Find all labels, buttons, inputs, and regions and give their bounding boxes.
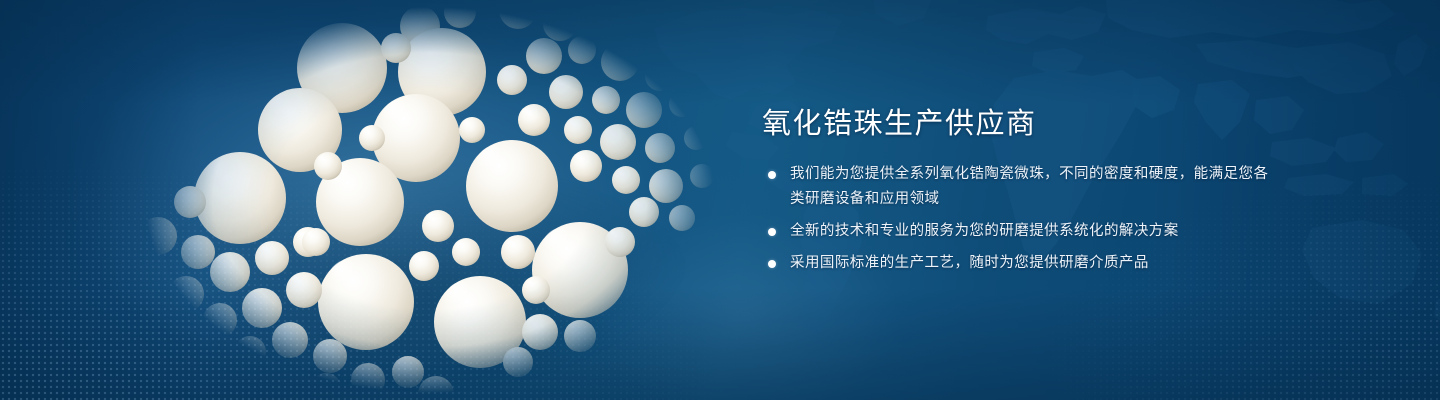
list-item-text: 全新的技术和专业的服务为您的研磨提供系统化的解决方案 [790,223,1179,239]
list-item-text: 我们能为您提供全系列氧化锆陶瓷微珠，不同的密度和硬度，能满足您各类研磨设备和应用… [790,166,1268,207]
hero-banner: 氧化锆珠生产供应商 我们能为您提供全系列氧化锆陶瓷微珠，不同的密度和硬度，能满足… [0,0,1440,400]
list-item: 采用国际标准的生产工艺，随时为您提供研磨介质产品 [762,251,1282,276]
bullet-dot-icon [768,260,776,268]
list-item: 我们能为您提供全系列氧化锆陶瓷微珠，不同的密度和硬度，能满足您各类研磨设备和应用… [762,162,1282,212]
page-title: 氧化锆珠生产供应商 [762,104,1282,144]
bullet-dot-icon [768,171,776,179]
bullet-dot-icon [768,228,776,236]
feature-list: 我们能为您提供全系列氧化锆陶瓷微珠，不同的密度和硬度，能满足您各类研磨设备和应用… [762,162,1282,276]
zirconia-beads-photo [120,0,740,400]
banner-copy: 氧化锆珠生产供应商 我们能为您提供全系列氧化锆陶瓷微珠，不同的密度和硬度，能满足… [762,104,1282,276]
list-item: 全新的技术和专业的服务为您的研磨提供系统化的解决方案 [762,219,1282,244]
list-item-text: 采用国际标准的生产工艺，随时为您提供研磨介质产品 [790,255,1149,271]
